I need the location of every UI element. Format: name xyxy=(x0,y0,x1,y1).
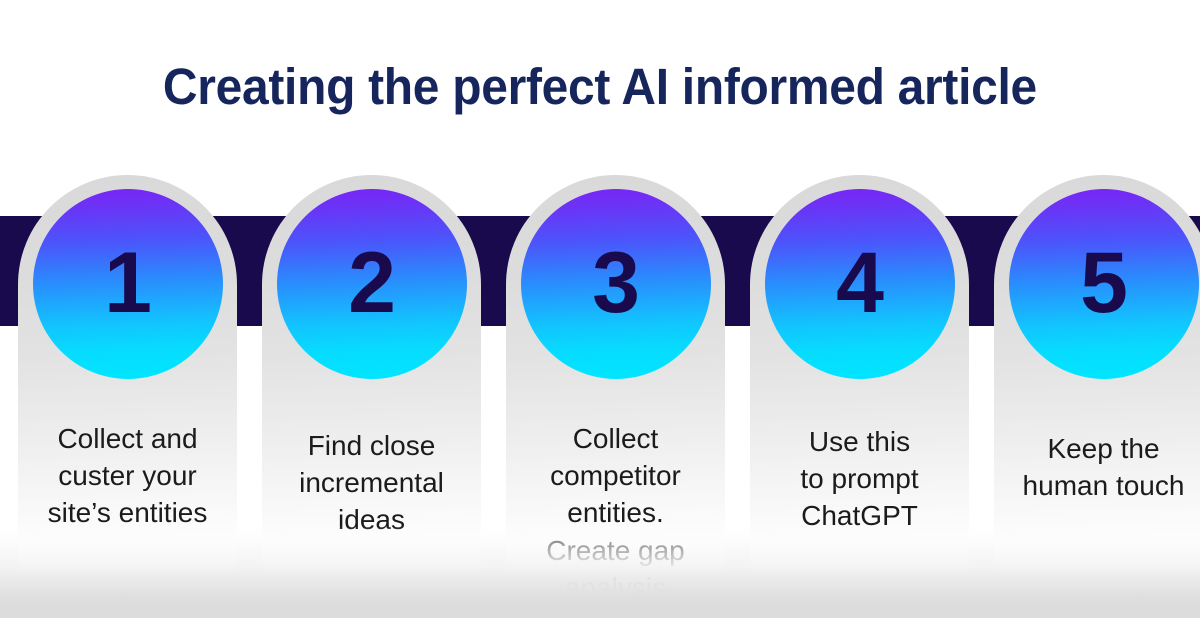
step-number-1: 1 xyxy=(104,240,151,326)
step-card-2[interactable]: 2 Find close incremental ideas xyxy=(262,175,481,575)
step-card-3[interactable]: 3 Collect competitor entities. Create ga… xyxy=(506,175,725,575)
step-number-badge-4: 4 xyxy=(765,189,955,379)
step-number-badge-3: 3 xyxy=(521,189,711,379)
step-card-5[interactable]: 5 Keep the human touch xyxy=(994,175,1200,575)
step-number-badge-2: 2 xyxy=(277,189,467,379)
step-number-3: 3 xyxy=(592,240,639,326)
page-title: Creating the perfect AI informed article xyxy=(163,60,1037,114)
step-card-1[interactable]: 1 Collect and custer your site’s entitie… xyxy=(18,175,237,575)
step-number-badge-1: 1 xyxy=(33,189,223,379)
step-caption-1: Collect and custer your site’s entities xyxy=(8,420,247,532)
step-caption-5: Keep the human touch xyxy=(976,430,1200,504)
step-number-5: 5 xyxy=(1080,240,1127,326)
page-title-container: Creating the perfect AI informed article xyxy=(0,26,1200,148)
step-caption-2: Find close incremental ideas xyxy=(252,427,491,539)
infographic-slide: Creating the perfect AI informed article… xyxy=(0,0,1200,618)
step-caption-4: Use this to prompt ChatGPT xyxy=(740,423,979,535)
step-caption-3: Collect competitor entities. Create gap … xyxy=(496,420,735,606)
step-number-4: 4 xyxy=(836,240,883,326)
steps-row: 1 Collect and custer your site’s entitie… xyxy=(18,175,1182,595)
step-number-badge-5: 5 xyxy=(1009,189,1199,379)
step-number-2: 2 xyxy=(348,240,395,326)
step-card-4[interactable]: 4 Use this to prompt ChatGPT xyxy=(750,175,969,575)
